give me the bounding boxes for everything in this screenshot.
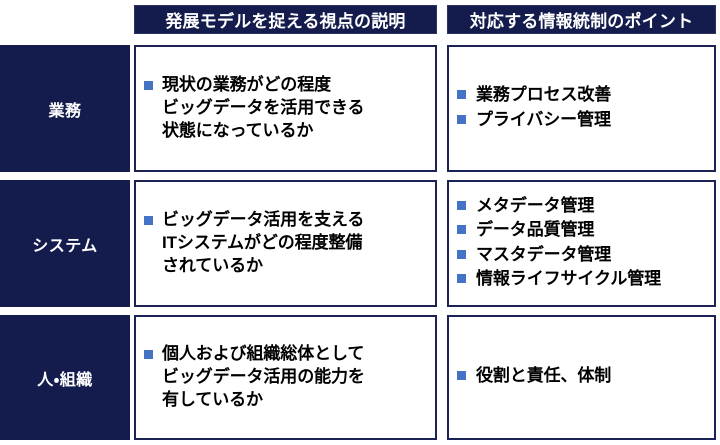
- square-bullet-icon: [144, 350, 153, 359]
- bullet-list: ビッグデータ活用を支える ITシステムがどの程度整備 されているか: [144, 209, 429, 277]
- matrix-diagram: 発展モデルを捉える視点の説明 対応する情報統制のポイント 業務 現状の業務がどの…: [0, 0, 720, 445]
- cell-control-points-system: メタデータ管理 データ品質管理 マスタデータ管理 情報ライフサイクル管理: [447, 180, 716, 307]
- bullet-label: 役割と責任、体制: [476, 365, 708, 387]
- table-row: 業務 現状の業務がどの程度 ビッグデータを活用できる 状態になっているか 業務プ…: [0, 45, 720, 172]
- square-bullet-icon: [457, 90, 466, 99]
- bullet-label: 業務プロセス改善: [476, 84, 708, 106]
- cell-description-people-organization: 個人および組織総体として ビッグデータ活用の能力を 有しているか: [134, 315, 437, 440]
- bullet-list: 業務プロセス改善 プライバシー管理: [457, 84, 708, 132]
- list-item: 役割と責任、体制: [457, 365, 708, 387]
- header-corner-spacer: [0, 5, 130, 34]
- bullet-label: ビッグデータ活用を支える ITシステムがどの程度整備 されているか: [162, 209, 429, 277]
- bullet-list: メタデータ管理 データ品質管理 マスタデータ管理 情報ライフサイクル管理: [457, 195, 708, 291]
- list-item: 現状の業務がどの程度 ビッグデータを活用できる 状態になっているか: [144, 74, 429, 142]
- cell-description-system: ビッグデータ活用を支える ITシステムがどの程度整備 されているか: [134, 180, 437, 307]
- list-item: マスタデータ管理: [457, 244, 708, 266]
- list-item: プライバシー管理: [457, 109, 708, 131]
- square-bullet-icon: [144, 81, 153, 90]
- cell-control-points-gyomu: 業務プロセス改善 プライバシー管理: [447, 45, 716, 172]
- square-bullet-icon: [457, 371, 466, 380]
- cell-control-points-people-organization: 役割と責任、体制: [447, 315, 716, 440]
- bullet-label: メタデータ管理: [476, 195, 708, 217]
- square-bullet-icon: [457, 115, 466, 124]
- row-label-people-organization: 人・組織: [0, 315, 130, 440]
- bullet-list: 現状の業務がどの程度 ビッグデータを活用できる 状態になっているか: [144, 74, 429, 142]
- row-label-system: システム: [0, 180, 130, 307]
- bullet-label: 情報ライフサイクル管理: [476, 268, 708, 290]
- bullet-label: 個人および組織総体として ビッグデータ活用の能力を 有しているか: [162, 343, 429, 411]
- bullet-label: プライバシー管理: [476, 109, 708, 131]
- square-bullet-icon: [457, 274, 466, 283]
- bullet-list: 役割と責任、体制: [457, 365, 708, 389]
- square-bullet-icon: [457, 250, 466, 259]
- cell-description-gyomu: 現状の業務がどの程度 ビッグデータを活用できる 状態になっているか: [134, 45, 437, 172]
- list-item: 業務プロセス改善: [457, 84, 708, 106]
- column-header-description: 発展モデルを捉える視点の説明: [134, 5, 437, 34]
- table-header-row: 発展モデルを捉える視点の説明 対応する情報統制のポイント: [0, 5, 720, 34]
- bullet-label: マスタデータ管理: [476, 244, 708, 266]
- square-bullet-icon: [457, 201, 466, 210]
- list-item: ビッグデータ活用を支える ITシステムがどの程度整備 されているか: [144, 209, 429, 277]
- list-item: 情報ライフサイクル管理: [457, 268, 708, 290]
- bullet-label: データ品質管理: [476, 219, 708, 241]
- list-item: メタデータ管理: [457, 195, 708, 217]
- table-row: 人・組織 個人および組織総体として ビッグデータ活用の能力を 有しているか 役割…: [0, 315, 720, 440]
- row-label-gyomu: 業務: [0, 45, 130, 172]
- bullet-label: 現状の業務がどの程度 ビッグデータを活用できる 状態になっているか: [162, 74, 429, 142]
- bullet-list: 個人および組織総体として ビッグデータ活用の能力を 有しているか: [144, 343, 429, 411]
- column-header-control-points: 対応する情報統制のポイント: [447, 5, 716, 34]
- list-item: 個人および組織総体として ビッグデータ活用の能力を 有しているか: [144, 343, 429, 411]
- list-item: データ品質管理: [457, 219, 708, 241]
- square-bullet-icon: [457, 225, 466, 234]
- table-row: システム ビッグデータ活用を支える ITシステムがどの程度整備 されているか メ…: [0, 180, 720, 307]
- square-bullet-icon: [144, 216, 153, 225]
